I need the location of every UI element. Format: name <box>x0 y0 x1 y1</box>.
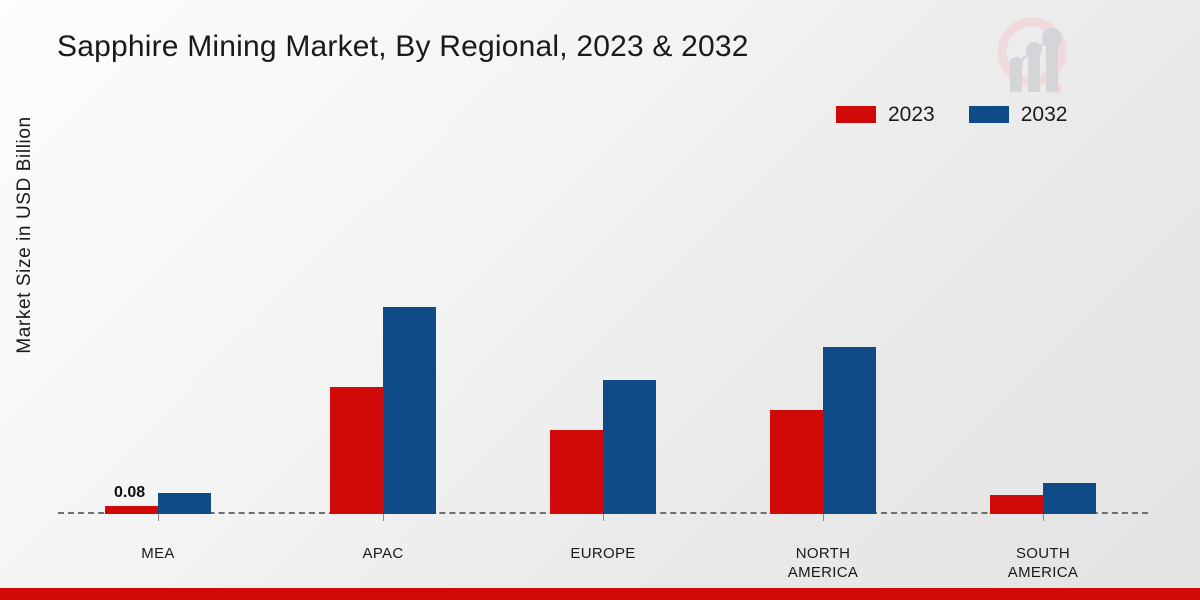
bar-south-america-2032[interactable] <box>1043 483 1096 514</box>
category-label-north-america: NORTH AMERICA <box>723 544 923 582</box>
category-label-line: SOUTH <box>1016 545 1070 562</box>
x-tick-europe <box>603 514 604 521</box>
category-label-line: APAC <box>363 545 404 562</box>
bar-europe-2032[interactable] <box>603 380 656 514</box>
watermark-logo-icon <box>988 12 1080 100</box>
chart-legend: 2023 2032 <box>836 104 1067 125</box>
category-label-south-america: SOUTH AMERICA <box>943 544 1143 582</box>
bar-north-america-2032[interactable] <box>823 347 876 514</box>
bars-row <box>105 140 211 514</box>
category-label-line: AMERICA <box>788 564 858 581</box>
footer-accent-bar <box>0 588 1200 600</box>
bars-row <box>550 140 656 514</box>
x-tick-north-america <box>823 514 824 521</box>
chart-title: Sapphire Mining Market, By Regional, 202… <box>57 30 749 64</box>
category-label-apac: APAC <box>283 544 483 563</box>
x-tick-south-america <box>1043 514 1044 521</box>
bar-mea-2023[interactable] <box>105 506 158 514</box>
bar-apac-2023[interactable] <box>330 387 383 514</box>
category-label-line: AMERICA <box>1008 564 1078 581</box>
x-tick-apac <box>383 514 384 521</box>
bar-apac-2032[interactable] <box>383 307 436 514</box>
chart-canvas: Sapphire Mining Market, By Regional, 202… <box>0 0 1200 600</box>
category-label-line: NORTH <box>796 545 851 562</box>
bar-south-america-2023[interactable] <box>990 495 1043 514</box>
bar-north-america-2023[interactable] <box>770 410 823 514</box>
category-label-line: EUROPE <box>570 545 635 562</box>
bars-row <box>330 140 436 514</box>
bar-europe-2023[interactable] <box>550 430 603 514</box>
bar-value-label-mea-2023: 0.08 <box>114 484 145 502</box>
bars-row <box>990 140 1096 514</box>
y-axis-title: Market Size in USD Billion <box>14 70 36 400</box>
legend-item-2023[interactable]: 2023 <box>836 104 935 125</box>
legend-swatch-2023 <box>836 106 876 123</box>
x-tick-mea <box>158 514 159 521</box>
category-label-europe: EUROPE <box>503 544 703 563</box>
legend-label-2032: 2032 <box>1021 104 1068 125</box>
category-label-line: MEA <box>141 545 174 562</box>
legend-item-2032[interactable]: 2032 <box>969 104 1068 125</box>
plot-area: 0.08 MEA APAC EUROPE <box>58 140 1148 514</box>
legend-swatch-2032 <box>969 106 1009 123</box>
category-label-mea: MEA <box>58 544 258 563</box>
bar-mea-2032[interactable] <box>158 493 211 514</box>
legend-label-2023: 2023 <box>888 104 935 125</box>
bars-row <box>770 140 876 514</box>
